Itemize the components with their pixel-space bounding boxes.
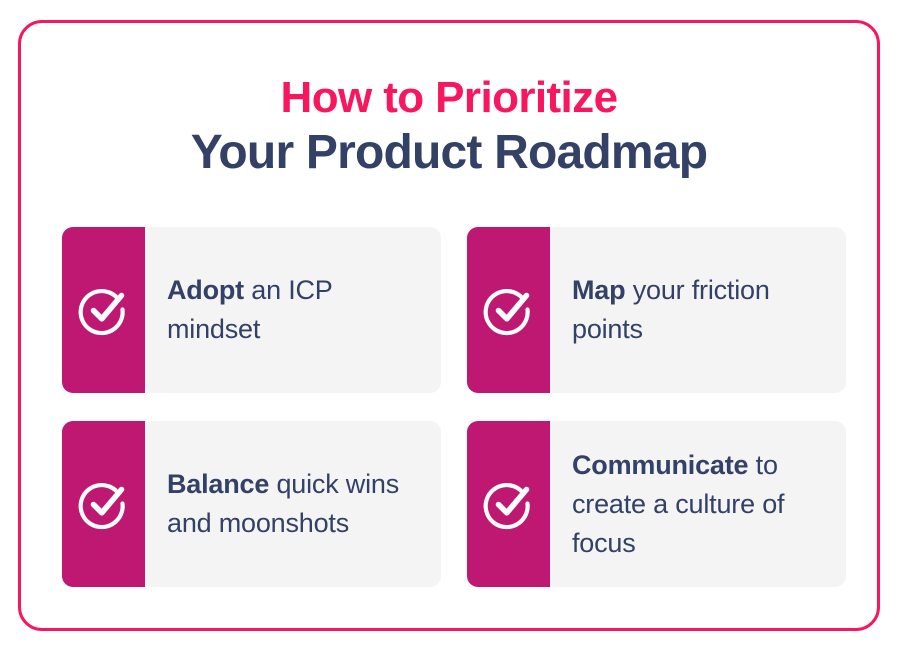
check-circle-icon [78,478,130,530]
check-circle-icon [483,478,535,530]
card-icon-panel [467,421,550,587]
card-icon-panel [62,421,145,587]
card-map: Map your friction points [467,227,846,393]
card-body: Map your friction points [550,227,846,393]
card-label-lead: Adopt [167,275,244,305]
card-adopt: Adopt an ICP mindset [62,227,441,393]
card-label-lead: Balance [167,469,269,499]
check-circle-icon [483,284,535,336]
card-label: Adopt an ICP mindset [167,271,427,349]
card-icon-panel [467,227,550,393]
card-grid: Adopt an ICP mindset Map your friction p… [62,227,842,587]
card-balance: Balance quick wins and moonshots [62,421,441,587]
card-icon-panel [62,227,145,393]
card-label: Map your friction points [572,271,832,349]
card-communicate: Communicate to create a culture of focus [467,421,846,587]
card-label-lead: Map [572,275,625,305]
page-title: How to Prioritize Your Product Roadmap [21,71,877,181]
check-circle-icon [78,284,130,336]
title-line-primary: How to Prioritize [21,71,877,125]
card-body: Communicate to create a culture of focus [550,421,846,587]
card-body: Balance quick wins and moonshots [145,421,441,587]
card-label-lead: Communicate [572,450,748,480]
title-line-secondary: Your Product Roadmap [21,125,877,181]
card-body: Adopt an ICP mindset [145,227,441,393]
card-label: Balance quick wins and moonshots [167,465,427,543]
infographic-frame: How to Prioritize Your Product Roadmap A… [18,20,880,631]
card-label: Communicate to create a culture of focus [572,446,832,563]
